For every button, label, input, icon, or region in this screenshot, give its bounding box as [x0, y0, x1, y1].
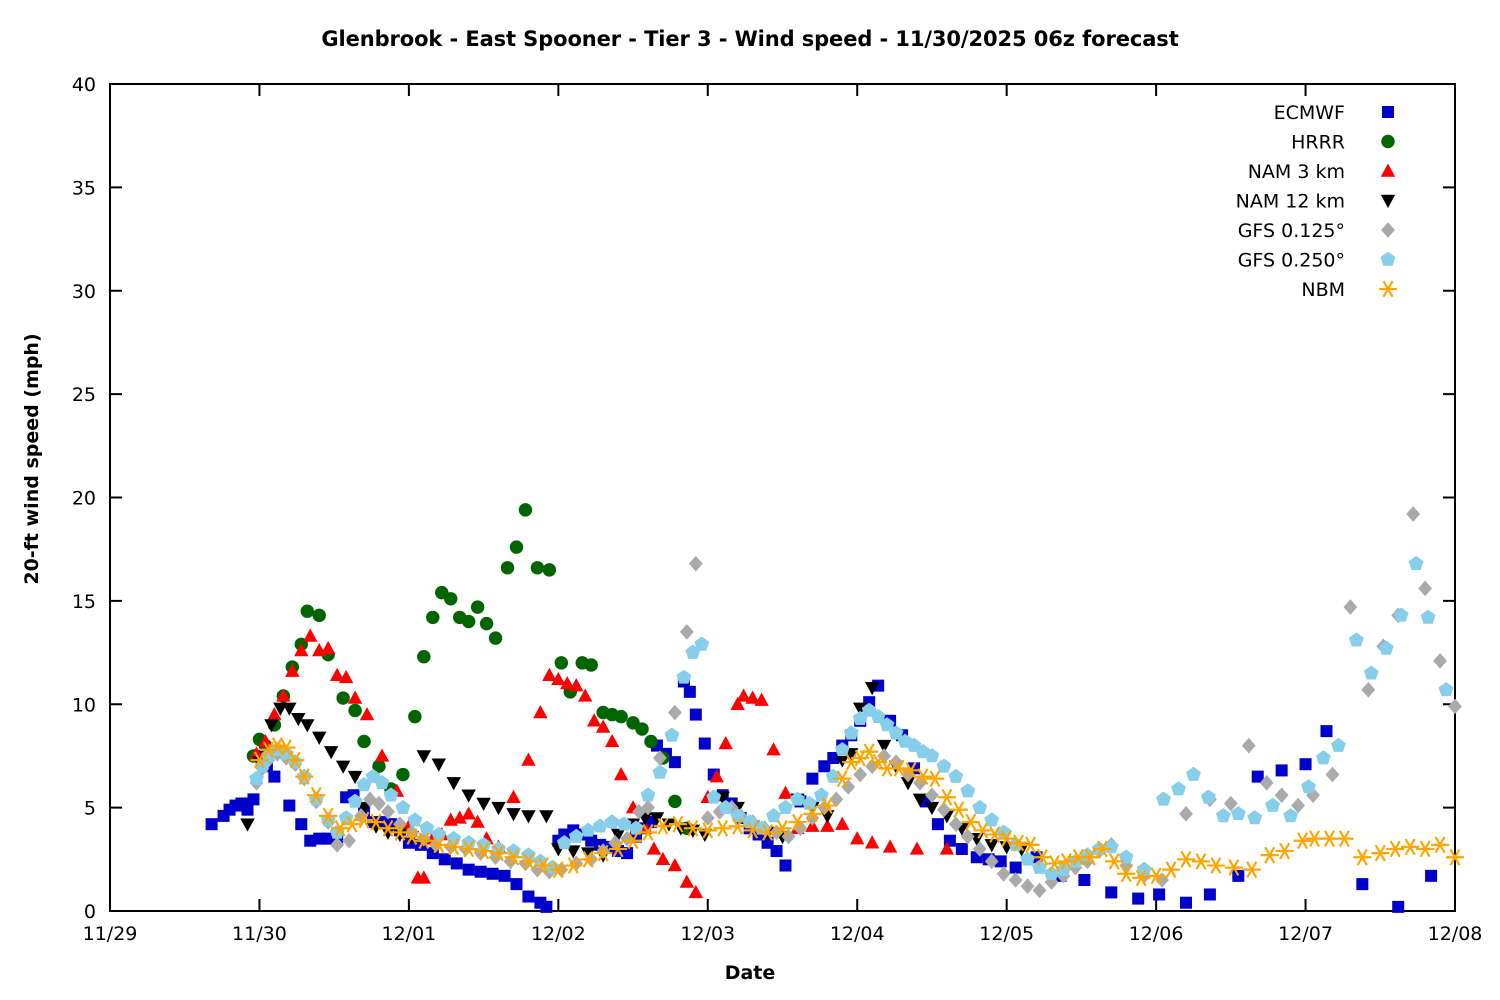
data-point: [1177, 852, 1195, 868]
data-point: [206, 818, 218, 830]
y-tick-label: 35: [72, 177, 96, 199]
data-point: [1192, 854, 1210, 870]
legend-marker-circle-icon: [1381, 135, 1394, 148]
data-point: [1316, 750, 1331, 764]
data-point: [446, 831, 461, 845]
legend-marker-pentagon-icon: [1381, 252, 1396, 266]
x-tick-label: 11/29: [83, 923, 138, 945]
data-point: [336, 761, 350, 774]
data-point: [719, 736, 733, 749]
data-point: [771, 845, 783, 857]
legend-marker-triangle-up-icon: [1381, 164, 1395, 177]
data-point: [321, 641, 335, 654]
data-point: [533, 705, 547, 718]
data-point: [348, 704, 361, 717]
data-point: [635, 722, 648, 735]
data-point: [644, 735, 657, 748]
data-point: [997, 866, 1011, 882]
data-point: [1105, 886, 1117, 898]
data-point: [883, 839, 897, 852]
data-point: [1364, 665, 1379, 679]
data-point: [605, 734, 619, 747]
x-tick-label: 12/04: [830, 923, 885, 945]
data-point: [357, 735, 370, 748]
data-point: [489, 631, 502, 644]
data-point: [1433, 653, 1447, 669]
data-point: [1386, 841, 1404, 857]
data-point: [1261, 847, 1279, 863]
data-point: [510, 540, 523, 553]
data-point: [584, 658, 597, 671]
data-point: [1186, 767, 1201, 781]
data-point: [684, 686, 696, 698]
data-point: [471, 600, 484, 613]
data-point: [1349, 632, 1364, 646]
data-point: [614, 710, 627, 723]
data-point: [680, 624, 694, 640]
wind-speed-forecast-chart: Glenbrook - East Spooner - Tier 3 - Wind…: [0, 0, 1500, 1000]
legend-label-gfs-0-250: GFS 0.250°: [1238, 250, 1345, 272]
data-point: [375, 748, 389, 761]
data-point: [408, 710, 421, 723]
data-point: [521, 810, 535, 823]
data-point: [1448, 699, 1462, 715]
series-hrrr: [247, 503, 694, 835]
data-point: [539, 810, 553, 823]
y-tick-label: 40: [72, 74, 96, 96]
y-tick-label: 15: [72, 591, 96, 613]
data-point: [506, 808, 520, 821]
legend-label-nbm: NBM: [1301, 279, 1345, 301]
data-point: [1353, 849, 1371, 865]
data-point: [1406, 506, 1420, 522]
data-point: [1247, 810, 1262, 824]
data-point: [1361, 682, 1375, 698]
data-point: [1294, 833, 1312, 849]
data-point: [1326, 767, 1340, 783]
data-point: [910, 841, 924, 854]
data-point: [938, 789, 956, 805]
data-point: [487, 868, 499, 880]
data-point: [1207, 858, 1225, 874]
legend-marker-triangle-down-icon: [1381, 195, 1395, 208]
data-point: [1401, 839, 1419, 855]
data-point: [766, 742, 780, 755]
data-point: [540, 901, 552, 913]
data-point: [431, 827, 446, 841]
data-point: [510, 878, 522, 890]
data-point: [1179, 806, 1193, 822]
data-point: [960, 783, 975, 797]
legend-label-nam-3-km: NAM 3 km: [1248, 161, 1345, 183]
data-point: [480, 617, 493, 630]
chart-legend: ECMWFHRRRNAM 3 kmNAM 12 kmGFS 0.125°GFS …: [1236, 102, 1397, 301]
data-point: [475, 866, 487, 878]
data-point: [972, 800, 987, 814]
data-point: [499, 870, 511, 882]
data-point: [641, 787, 656, 801]
data-point: [461, 835, 476, 849]
data-point: [1243, 862, 1261, 878]
y-tick-label: 0: [84, 901, 96, 923]
data-point: [1421, 610, 1436, 624]
data-point: [1331, 738, 1346, 752]
data-point: [476, 798, 490, 811]
data-point: [336, 691, 349, 704]
legend-label-hrrr: HRRR: [1291, 132, 1345, 154]
x-tick-label: 12/08: [1428, 923, 1483, 945]
data-point: [1335, 831, 1353, 847]
data-points-layer: [206, 503, 1464, 913]
legend-marker-square-icon: [1382, 106, 1394, 118]
data-point: [1156, 792, 1171, 806]
data-point: [668, 705, 682, 721]
x-tick-label: 12/02: [531, 923, 586, 945]
y-tick-label: 20: [72, 488, 96, 510]
data-point: [1132, 893, 1144, 905]
x-tick-label: 11/30: [232, 923, 287, 945]
data-point: [1300, 758, 1312, 770]
data-point: [1204, 888, 1216, 900]
data-point: [461, 806, 475, 819]
data-point: [1242, 738, 1256, 754]
data-point: [1392, 901, 1404, 913]
data-point: [521, 753, 535, 766]
data-point: [1371, 845, 1389, 861]
data-point: [313, 609, 326, 622]
data-point: [283, 800, 295, 812]
data-point: [1301, 779, 1316, 793]
legend-marker-asterisk-icon: [1379, 281, 1397, 297]
data-point: [461, 790, 475, 803]
data-point: [1416, 841, 1434, 857]
data-point: [844, 725, 859, 739]
data-point: [555, 656, 568, 669]
data-point: [506, 790, 520, 803]
data-point: [1171, 781, 1186, 795]
data-point: [779, 860, 791, 872]
series-gfs-0-250: [249, 556, 1453, 880]
data-point: [247, 793, 259, 805]
legend-label-gfs-0-125: GFS 0.125°: [1238, 220, 1345, 242]
x-tick-label: 12/07: [1278, 923, 1333, 945]
data-point: [417, 750, 431, 763]
data-point: [1265, 798, 1280, 812]
data-point: [542, 668, 556, 681]
data-point: [948, 769, 963, 783]
data-point: [714, 821, 732, 837]
data-point: [531, 561, 544, 574]
data-point: [1009, 872, 1023, 888]
data-point: [439, 853, 451, 865]
data-point: [295, 818, 307, 830]
data-point: [324, 746, 338, 759]
data-point: [444, 592, 457, 605]
data-point: [850, 831, 864, 844]
data-point: [1010, 862, 1022, 874]
data-point: [1275, 787, 1289, 803]
data-point: [950, 802, 968, 818]
data-point: [865, 835, 879, 848]
plot-area: 051015202530354011/2911/3012/0112/0212/0…: [0, 0, 1500, 1000]
data-point: [463, 864, 475, 876]
data-point: [806, 773, 818, 785]
data-point: [647, 841, 661, 854]
x-tick-label: 12/06: [1129, 923, 1184, 945]
data-point: [680, 875, 694, 888]
x-tick-label: 12/05: [979, 923, 1034, 945]
data-point: [240, 818, 254, 831]
data-point: [1409, 556, 1424, 570]
data-point: [699, 738, 711, 750]
data-point: [664, 727, 679, 741]
y-tick-label: 10: [72, 694, 96, 716]
data-point: [543, 563, 556, 576]
x-tick-label: 12/01: [382, 923, 437, 945]
data-point: [241, 804, 253, 816]
data-point: [614, 767, 628, 780]
data-point: [432, 759, 446, 772]
data-point: [925, 802, 939, 815]
data-point: [348, 691, 362, 704]
data-point: [1180, 897, 1192, 909]
x-tick-label: 12/03: [680, 923, 735, 945]
data-point: [417, 650, 430, 663]
data-point: [1418, 581, 1432, 597]
data-point: [1153, 888, 1165, 900]
data-point: [360, 707, 374, 720]
data-point: [1276, 764, 1288, 776]
data-point: [506, 843, 521, 857]
data-point: [451, 857, 463, 869]
data-point: [835, 817, 849, 830]
data-point: [312, 732, 326, 745]
data-point: [814, 787, 829, 801]
data-point: [676, 670, 691, 684]
data-point: [396, 768, 409, 781]
data-point: [395, 800, 410, 814]
data-point: [1078, 874, 1090, 886]
y-tick-label: 30: [72, 281, 96, 303]
data-point: [932, 818, 944, 830]
data-point: [653, 765, 668, 779]
data-point: [1394, 608, 1409, 622]
data-point: [669, 756, 681, 768]
data-point: [694, 636, 709, 650]
data-point: [303, 629, 317, 642]
data-point: [1033, 883, 1047, 899]
data-point: [1216, 808, 1231, 822]
data-point: [1356, 878, 1368, 890]
legend-label-ecmwf: ECMWF: [1274, 102, 1345, 124]
y-tick-label: 5: [84, 798, 96, 820]
data-point: [956, 843, 968, 855]
data-point: [447, 777, 461, 790]
data-point: [300, 719, 314, 732]
data-point: [501, 561, 514, 574]
data-point: [426, 611, 439, 624]
data-point: [1276, 843, 1294, 859]
data-point: [522, 891, 534, 903]
legend-label-nam-12-km: NAM 12 km: [1236, 191, 1345, 213]
data-point: [926, 771, 944, 787]
data-point: [407, 812, 422, 826]
data-point: [1425, 870, 1437, 882]
data-point: [1439, 682, 1454, 696]
data-point: [689, 556, 703, 572]
data-point: [1431, 837, 1449, 853]
data-point: [491, 802, 505, 815]
data-point: [301, 604, 314, 617]
data-point: [462, 615, 475, 628]
data-point: [1021, 878, 1035, 894]
legend-marker-diamond-icon: [1381, 222, 1395, 238]
data-point: [1201, 789, 1216, 803]
data-point: [1343, 599, 1357, 615]
data-point: [519, 503, 532, 516]
data-point: [268, 771, 280, 783]
data-point: [1232, 870, 1244, 882]
data-point: [668, 795, 681, 808]
data-point: [778, 800, 793, 814]
y-tick-label: 25: [72, 384, 96, 406]
data-point: [1320, 725, 1332, 737]
data-point: [690, 709, 702, 721]
